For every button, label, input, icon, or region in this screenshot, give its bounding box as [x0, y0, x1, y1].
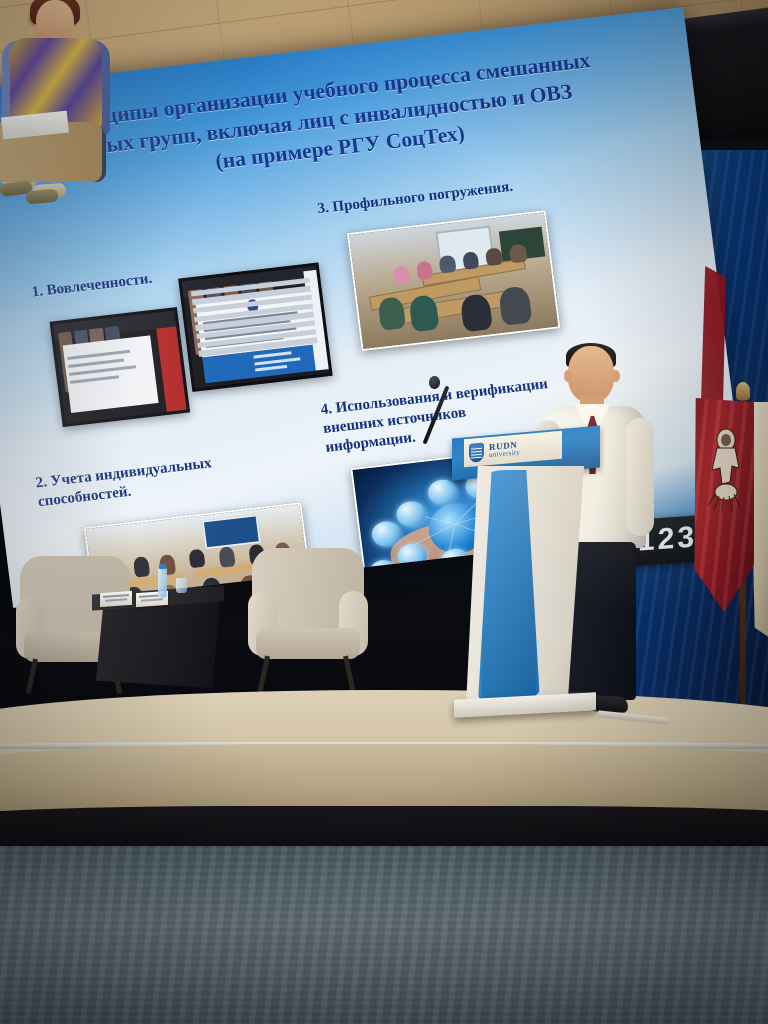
water-bottle	[158, 568, 167, 598]
armchair	[252, 548, 364, 690]
auditorium-carpet	[0, 846, 768, 1024]
flag-finial	[736, 382, 750, 400]
podium: RUDN university	[452, 432, 602, 724]
podium-brand-secondary: university	[489, 449, 520, 459]
microphone-icon	[429, 376, 440, 389]
conference-stage-photo: Принципы организации учебного процесса с…	[0, 0, 768, 1024]
rudn-shield-icon	[469, 442, 484, 462]
side-table	[96, 596, 220, 688]
drinking-glass	[176, 578, 187, 593]
nameplate	[100, 591, 132, 607]
coat-of-arms-icon	[706, 424, 746, 516]
